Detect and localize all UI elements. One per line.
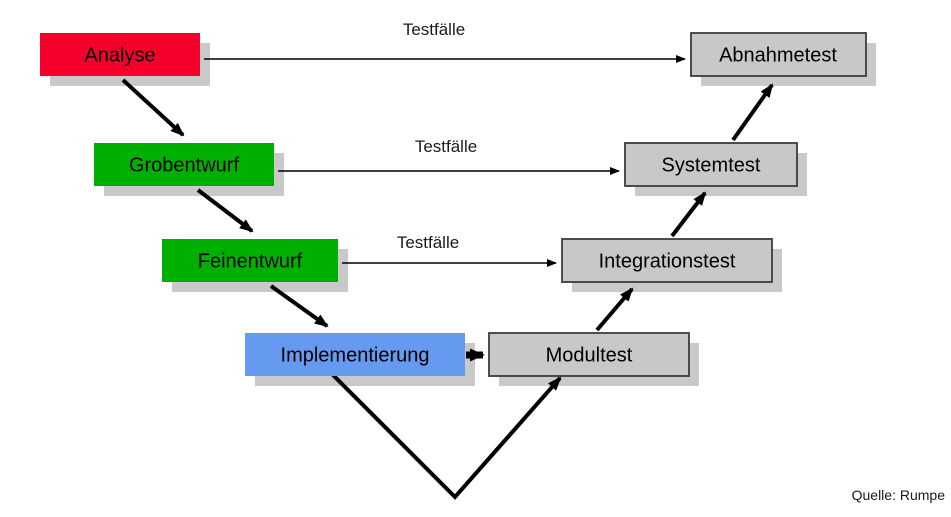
arrow-integrationstest-to-systemtest <box>672 193 705 236</box>
v-model-diagram: Analyse Grobentwurf Feinentwurf Implemen… <box>0 0 951 517</box>
arrow-analyse-to-grobentwurf <box>123 80 183 135</box>
arrow-grobentwurf-to-feinentwurf <box>198 190 252 231</box>
box-systemtest-label: Systemtest <box>662 154 761 176</box>
source-attribution: Quelle: Rumpe <box>852 487 946 503</box>
v-model-diagram-canvas: Analyse Grobentwurf Feinentwurf Implemen… <box>0 0 951 517</box>
edge-labels: Testfälle Testfälle Testfälle <box>397 20 477 252</box>
box-implementierung-label: Implementierung <box>281 344 430 366</box>
box-integrationstest-label: Integrationstest <box>599 250 736 272</box>
arrow-modultest-to-integrationstest <box>597 289 632 330</box>
box-modultest-label: Modultest <box>546 344 633 366</box>
box-grobentwurf-label: Grobentwurf <box>129 154 239 176</box>
box-integrationstest[interactable]: Integrationstest <box>562 239 772 282</box>
edge-label-testfaelle-2: Testfälle <box>415 137 477 156</box>
box-feinentwurf[interactable]: Feinentwurf <box>162 239 338 282</box>
box-implementierung[interactable]: Implementierung <box>245 333 465 376</box>
box-feinentwurf-label: Feinentwurf <box>198 250 303 272</box>
box-abnahmetest-label: Abnahmetest <box>719 44 837 66</box>
box-modultest[interactable]: Modultest <box>489 333 689 376</box>
box-grobentwurf[interactable]: Grobentwurf <box>94 143 274 186</box>
connector-v-bottom <box>330 372 560 497</box>
test-flow-arrows <box>597 85 772 330</box>
box-abnahmetest[interactable]: Abnahmetest <box>691 33 866 76</box>
arrow-systemtest-to-abnahmetest <box>733 85 772 140</box>
edge-label-testfaelle-3: Testfälle <box>397 233 459 252</box>
box-analyse[interactable]: Analyse <box>40 33 200 76</box>
box-systemtest[interactable]: Systemtest <box>625 143 797 186</box>
edge-label-testfaelle-1: Testfälle <box>403 20 465 39</box>
box-analyse-label: Analyse <box>84 44 155 66</box>
